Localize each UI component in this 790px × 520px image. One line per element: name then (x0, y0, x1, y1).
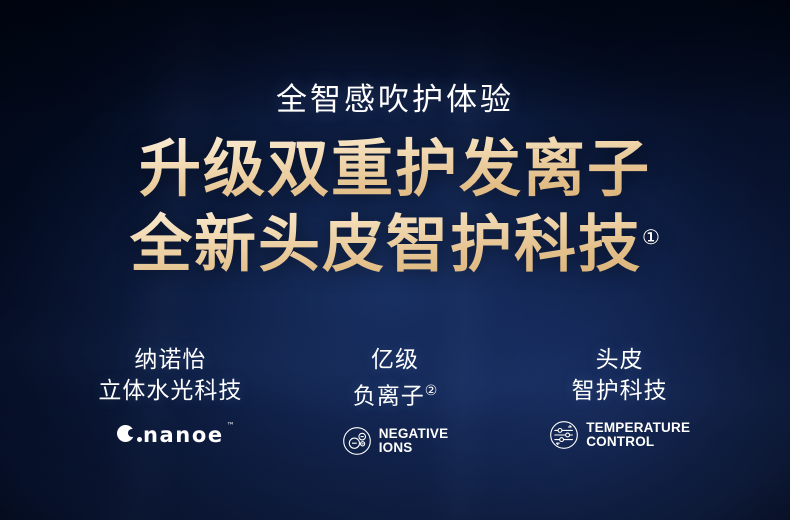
feature-item-negative-ions: 亿级 负离子② (283, 344, 508, 458)
temperature-control-icon (549, 420, 579, 450)
feature-footnote-marker: ② (425, 382, 438, 398)
nanoe-droplet-icon (117, 425, 138, 446)
feature-title-temperature-control: 头皮 智护科技 (572, 344, 668, 406)
logo-text-line-1: NEGATIVE (379, 426, 449, 441)
headline-line-2-text: 全新头皮智护科技 (130, 211, 642, 280)
eyebrow-text: 全智感吹护体验 (0, 74, 790, 119)
feature-title-line-1: 头皮 (596, 346, 644, 372)
feature-list: 纳诺怡 立体水光科技 nanoe ™ (58, 344, 732, 458)
headline-block: 升级双重护发离子 全新头皮智护科技① (0, 136, 790, 280)
headline-line-2: 全新头皮智护科技① (0, 204, 790, 280)
feature-title-negative-ions: 亿级 负离子② (353, 344, 438, 412)
feature-title-line-2: 智护科技 (572, 377, 668, 403)
headline-footnote-marker: ① (642, 227, 660, 249)
feature-logo-nanoe: nanoe ™ (117, 418, 224, 452)
logo-text-line-1: TEMPERATURE (586, 420, 690, 435)
nanoe-wordmark: nanoe ™ (143, 423, 224, 447)
feature-item-temperature-control: 头皮 智护科技 (507, 344, 732, 452)
feature-logo-temperature-control: TEMPERATURE CONTROL (549, 418, 690, 452)
feature-item-nanoe: 纳诺怡 立体水光科技 nanoe ™ (58, 344, 283, 452)
feature-title-line-2: 立体水光科技 (98, 377, 242, 403)
trademark-symbol: ™ (227, 421, 235, 430)
headline-line-1: 升级双重护发离子 (0, 136, 790, 204)
product-promo-banner: 全智感吹护体验 升级双重护发离子 全新头皮智护科技① 纳诺怡 立体水光科技 (0, 0, 790, 520)
feature-title-nanoe: 纳诺怡 立体水光科技 (98, 344, 242, 406)
temperature-control-label: TEMPERATURE CONTROL (586, 421, 690, 449)
feature-title-line-2: 负离子 (353, 383, 425, 409)
headline-line-1-text: 升级双重护发离子 (139, 135, 651, 204)
nanoe-wordmark-text: nanoe (143, 423, 224, 447)
banner-content: 全智感吹护体验 升级双重护发离子 全新头皮智护科技① 纳诺怡 立体水光科技 (0, 0, 790, 520)
negative-ions-icon (342, 426, 372, 456)
feature-logo-negative-ions: NEGATIVE IONS (342, 424, 449, 458)
feature-title-line-1: 亿级 (371, 346, 419, 372)
logo-text-line-2: CONTROL (586, 434, 654, 449)
logo-text-line-2: IONS (379, 440, 413, 455)
negative-ions-label: NEGATIVE IONS (379, 427, 449, 455)
feature-title-line-1: 纳诺怡 (134, 346, 206, 372)
nanoe-logo-icon: nanoe ™ (117, 423, 224, 447)
